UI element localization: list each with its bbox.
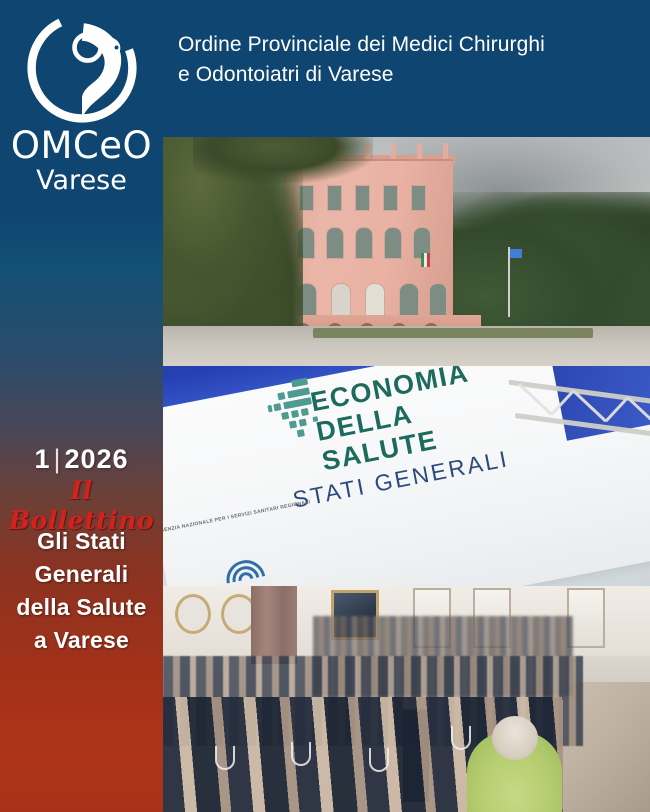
headline-line-2: Generali [4, 558, 159, 591]
issue-separator: | [50, 444, 64, 474]
foreground-attendee-head [492, 716, 538, 760]
page-title-line-2: e Odontoiatri di Varese [178, 60, 640, 90]
sidebar: OMCeO Varese 1|2026 Il Bollettino Gli St… [0, 0, 163, 812]
header-band: Ordine Provinciale dei Medici Chirurghi … [163, 0, 650, 137]
issue-line: 1|2026 [0, 443, 163, 475]
villa-window [384, 227, 402, 259]
brand-block: OMCeO Varese [0, 12, 163, 196]
headline-line-4: a Varese [4, 624, 159, 657]
lawn-strip [313, 328, 593, 338]
hall-curtain [251, 586, 297, 664]
blue-flag [510, 249, 522, 258]
lanyard [215, 746, 235, 770]
issue-block: 1|2026 Il Bollettino [0, 443, 163, 536]
photo-banner: ECONOMIA DELLA SALUTE STATI GENERALI AGE… [163, 366, 650, 586]
villa-window [355, 227, 373, 259]
lanyard [451, 726, 471, 750]
cover-headline: Gli Stati Generali della Salute a Varese [4, 525, 159, 657]
wall-mirror [175, 594, 211, 634]
right-column: Ordine Provinciale dei Medici Chirurghi … [163, 0, 650, 812]
headline-line-3: della Salute [4, 591, 159, 624]
omceo-serpent-circle-icon [26, 12, 138, 124]
headline-line-1: Gli Stati [4, 525, 159, 558]
photo-conference-hall [163, 586, 650, 812]
villa-window [383, 185, 398, 211]
italian-flag [421, 253, 430, 267]
villa-window [327, 185, 342, 211]
overhanging-branches [193, 137, 373, 183]
villa-spire [417, 143, 422, 159]
page-title-line-1: Ordine Provinciale dei Medici Chirurghi [178, 30, 640, 60]
lanyard [369, 748, 389, 772]
villa-spire [443, 143, 448, 159]
photo-villa [163, 137, 650, 366]
issue-year: 2026 [64, 444, 128, 474]
lanyard [291, 742, 311, 766]
issue-number: 1 [34, 444, 50, 474]
magazine-cover: OMCeO Varese 1|2026 Il Bollettino Gli St… [0, 0, 650, 812]
brand-city: Varese [0, 166, 163, 196]
villa-window [411, 185, 426, 211]
villa-facade [283, 159, 453, 336]
brand-acronym: OMCeO [0, 126, 163, 166]
agenas-logo-icon [218, 540, 269, 586]
villa-spire [391, 143, 396, 159]
villa-window [326, 227, 344, 259]
villa-window [355, 185, 370, 211]
page-title: Ordine Provinciale dei Medici Chirurghi … [178, 30, 640, 90]
